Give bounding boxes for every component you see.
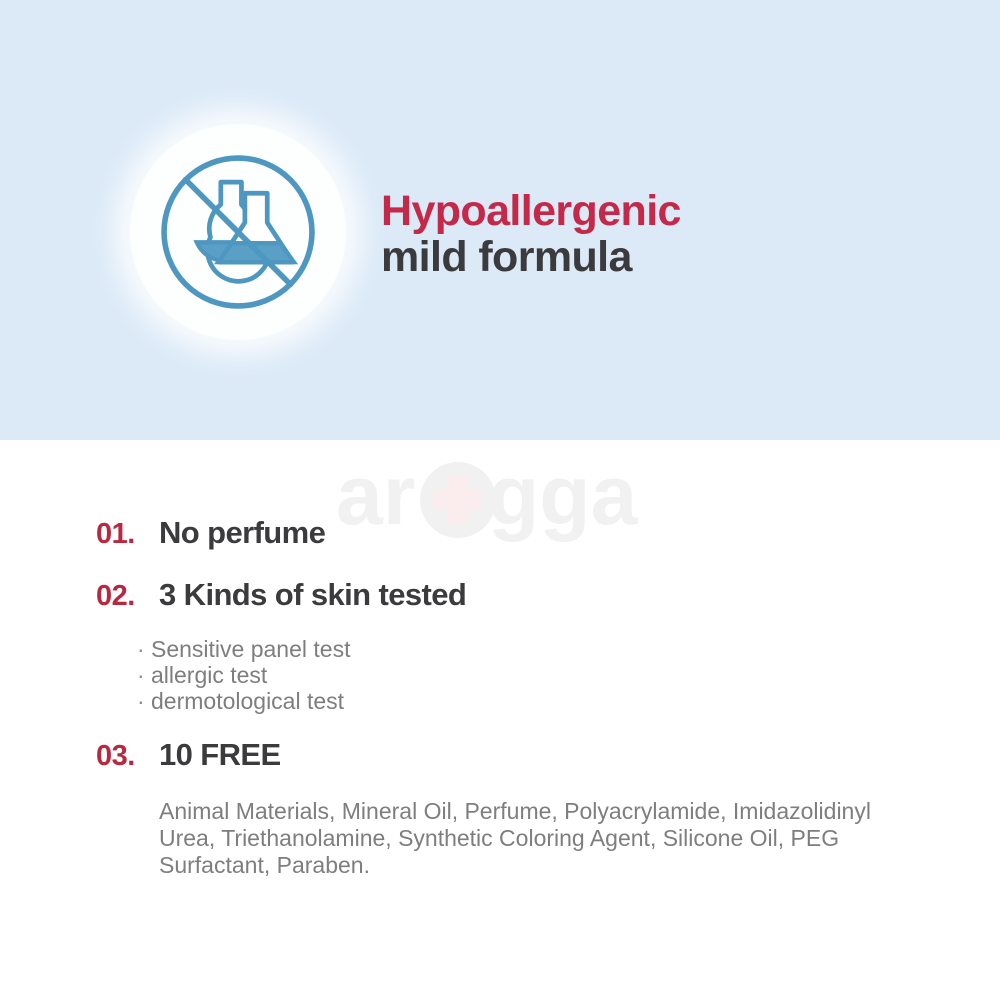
header-inner: Hypoallergenic mild formula (0, 0, 1000, 440)
sub-list-item: ·allergic test (137, 662, 350, 688)
list-item-head: 01. No perfume (0, 518, 1000, 558)
list-item-number: 03. (96, 740, 135, 773)
icon-disc (130, 124, 346, 340)
list-item-title: 3 Kinds of skin tested (159, 577, 466, 613)
list-item: 01. No perfume (0, 518, 1000, 558)
list-item-head: 02. 3 Kinds of skin tested (0, 580, 1000, 620)
feature-list: 01. No perfume 02. 3 Kinds of skin teste… (0, 440, 1000, 1000)
header-title-accent: Hypoallergenic (381, 188, 941, 234)
sub-list-item-label: allergic test (151, 662, 267, 688)
sub-list-item-label: Sensitive panel test (151, 636, 350, 662)
list-item: 02. 3 Kinds of skin tested (0, 580, 1000, 620)
list-item-head: 03. 10 FREE (0, 740, 1000, 780)
list-item-title: 10 FREE (159, 737, 281, 773)
product-info-card: Hypoallergenic mild formula ar gga 01. N… (0, 0, 1000, 1000)
list-item-number: 02. (96, 580, 135, 613)
list-item-number: 01. (96, 518, 135, 551)
header-title-subtitle: mild formula (381, 234, 941, 280)
sub-list-item: ·dermotological test (137, 688, 350, 714)
header-heading: Hypoallergenic mild formula (381, 188, 941, 281)
list-item-subitems: ·Sensitive panel test ·allergic test ·de… (137, 636, 350, 714)
list-item-title: No perfume (159, 515, 325, 551)
header-band: Hypoallergenic mild formula (0, 0, 1000, 440)
sub-list-item-label: dermotological test (151, 688, 344, 714)
bullet-dot-icon: · (137, 662, 151, 688)
excluded-ingredients-text: Animal Materials, Mineral Oil, Perfume, … (159, 798, 929, 879)
sub-list-item: ·Sensitive panel test (137, 636, 350, 662)
list-item: 03. 10 FREE (0, 740, 1000, 780)
bullet-dot-icon: · (137, 688, 151, 714)
bullet-dot-icon: · (137, 636, 151, 662)
